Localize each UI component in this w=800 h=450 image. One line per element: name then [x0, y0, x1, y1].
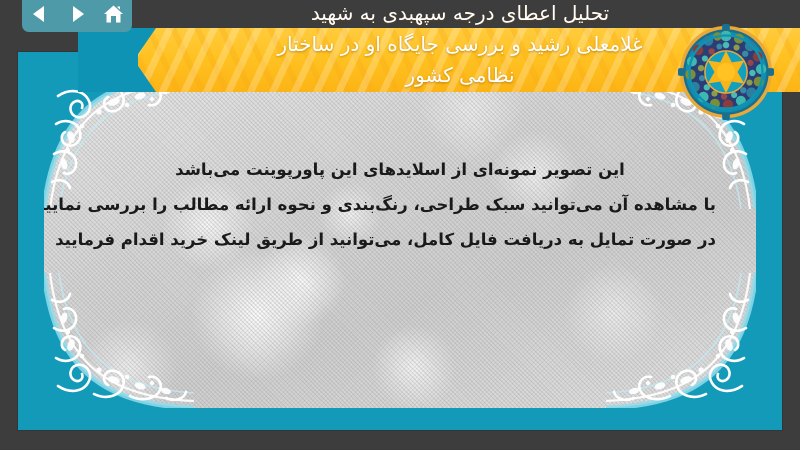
slide-navigation-bar: [22, 0, 132, 32]
slide-content-area: این تصویر نمونه‌ای از اسلایدهای این پاور…: [44, 74, 756, 408]
arabesque-corner-ornament-bottom-left: [44, 273, 194, 408]
triangle-left-icon: [30, 4, 50, 24]
banner-notch-shape: [120, 28, 156, 92]
title-line-1: تحلیل اعطای درجه سپهبدی به شهید: [150, 0, 770, 29]
arabesque-corner-ornament-bottom-right: [606, 273, 756, 408]
home-button[interactable]: [100, 1, 128, 27]
home-icon: [103, 4, 124, 24]
body-line-2: با مشاهده آن می‌توانید سبک طراحی، رنگ‌بن…: [84, 187, 716, 222]
triangle-right-icon: [67, 4, 87, 24]
persian-tile-medallion: [678, 24, 774, 120]
slide-frame: این تصویر نمونه‌ای از اسلایدهای این پاور…: [18, 52, 782, 430]
body-line-3: در صورت تمایل به دریافت فایل کامل، می‌تو…: [84, 222, 716, 257]
previous-slide-button[interactable]: [26, 1, 54, 27]
slide-body-text: این تصویر نمونه‌ای از اسلایدهای این پاور…: [84, 152, 716, 257]
presentation-slide: این تصویر نمونه‌ای از اسلایدهای این پاور…: [0, 0, 800, 450]
body-line-1: این تصویر نمونه‌ای از اسلایدهای این پاور…: [84, 152, 716, 187]
next-slide-button[interactable]: [63, 1, 91, 27]
